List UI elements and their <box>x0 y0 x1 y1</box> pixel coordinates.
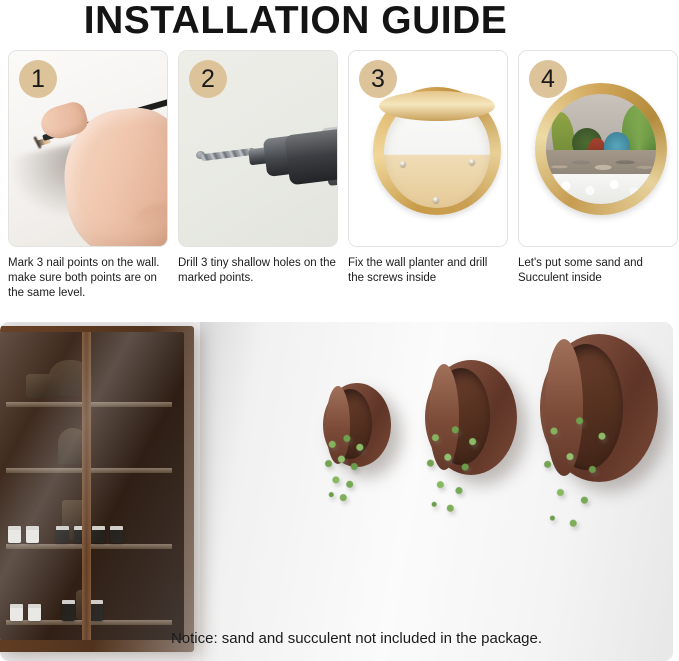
knuckle-shading <box>133 201 167 231</box>
hero-image: Notice: sand and succulent not included … <box>0 322 673 661</box>
cabinet-jar <box>26 526 39 543</box>
step-3-card: 3 <box>348 50 508 247</box>
step-1: 1 Mark 3 nail points on the wall. make s… <box>8 50 168 295</box>
cabinet-object <box>26 374 60 398</box>
step-4-card: 4 <box>518 50 678 247</box>
step-1-card: 1 <box>8 50 168 247</box>
planter-interior <box>546 94 656 204</box>
trailing-plant <box>538 408 618 536</box>
cabinet-jar <box>10 604 23 621</box>
display-cabinet <box>0 326 194 652</box>
installation-guide-page: INSTALLATION GUIDE 1 Mark 3 nail po <box>0 0 679 661</box>
step-2: 2 Drill 3 tiny shallow holes on the mark… <box>178 50 338 295</box>
planter-rim <box>379 91 495 121</box>
step-1-badge: 1 <box>19 60 57 98</box>
cabinet-jar <box>110 526 123 543</box>
screw-icon <box>400 161 406 167</box>
wall-planter-small <box>323 383 391 467</box>
wall-planter-large <box>540 334 658 482</box>
step-4-caption: Let's put some sand and Succulent inside <box>518 256 676 286</box>
gold-ring-planter-icon <box>535 83 667 215</box>
step-3: 3 Fix the wall planter and drill the scr… <box>348 50 508 295</box>
step-3-badge: 3 <box>359 60 397 98</box>
cabinet-jar <box>28 604 41 621</box>
drill-body-icon <box>284 127 337 186</box>
step-2-card: 2 <box>178 50 338 247</box>
trailing-plant <box>323 431 369 505</box>
cabinet-jar <box>62 600 75 621</box>
steps-row: 1 Mark 3 nail points on the wall. make s… <box>8 50 671 295</box>
cabinet-door-divider <box>82 332 91 640</box>
step-2-badge: 2 <box>189 60 227 98</box>
wall-planter-medium <box>425 360 517 475</box>
step-2-caption: Drill 3 tiny shallow holes on the marked… <box>178 256 336 286</box>
screw-icon <box>469 159 475 165</box>
step-3-caption: Fix the wall planter and drill the screw… <box>348 256 506 286</box>
step-4-badge: 4 <box>529 60 567 98</box>
cabinet-interior <box>0 332 184 640</box>
step-1-caption: Mark 3 nail points on the wall. make sur… <box>8 256 166 301</box>
notice-text: Notice: sand and succulent not included … <box>0 630 667 647</box>
cabinet-jar <box>90 600 103 621</box>
page-title: INSTALLATION GUIDE <box>0 0 679 44</box>
screw-icon <box>433 197 439 203</box>
white-sand-layer <box>546 174 656 204</box>
trailing-plant <box>423 420 485 518</box>
cabinet-jar <box>92 526 105 543</box>
step-4: 4 Let's put some sand and Succulent insi… <box>518 50 678 295</box>
cabinet-jar <box>8 526 21 543</box>
cabinet-jar <box>56 526 69 543</box>
